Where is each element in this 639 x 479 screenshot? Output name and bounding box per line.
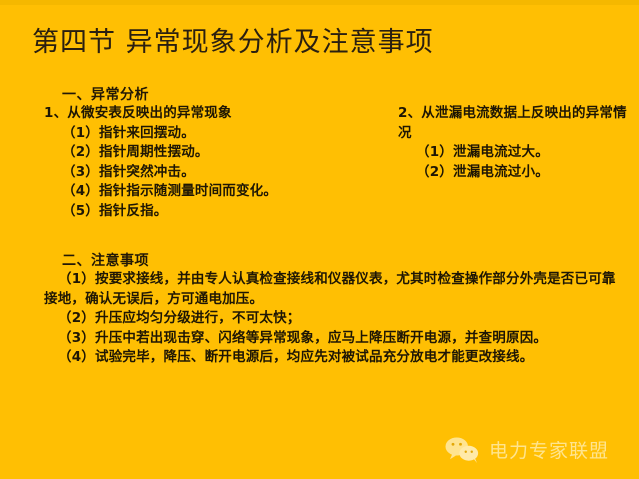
list-item: （4）指针指示随测量时间而变化。 (44, 182, 374, 202)
slide-canvas: 第四节 异常现象分析及注意事项 一、异常分析 1、从微安表反映出的异常现象 （1… (0, 0, 639, 479)
list-item: （2）泄漏电流过小。 (398, 163, 633, 183)
list-item: （3）指针突然冲击。 (44, 163, 374, 183)
list-item: 2、从泄漏电流数据上反映出的异常情况 (398, 104, 633, 143)
list-item: （4）试验完毕，降压、断开电源后，均应先对被试品充分放电才能更改接线。 (44, 348, 620, 368)
wechat-logo-icon (444, 436, 480, 463)
list-item: 1、从微安表反映出的异常现象 (44, 104, 374, 124)
list-item: （1）指针来回摆动。 (44, 124, 374, 144)
section-one-heading: 一、异常分析 (62, 84, 149, 104)
list-item: （3）升压中若出现击穿、闪络等异常现象，应马上降压断开电源，并查明原因。 (44, 329, 620, 349)
section-two-heading: 二、注意事项 (62, 250, 149, 270)
list-item: （2）指针周期性摆动。 (44, 143, 374, 163)
list-item: （2）升压应均匀分级进行，不可太快； (44, 309, 620, 329)
list-item: （1）按要求接线，并由专人认真检查接线和仪器仪表，尤其时检查操作部分外壳是否已可… (44, 270, 620, 309)
top-edge-strip (0, 0, 639, 5)
section-one-left-column: 1、从微安表反映出的异常现象 （1）指针来回摆动。 （2）指针周期性摆动。 （3… (44, 104, 374, 221)
list-item: （5）指针反指。 (44, 202, 374, 222)
page-title: 第四节 异常现象分析及注意事项 (32, 20, 434, 59)
watermark-label: 电力专家联盟 (489, 436, 609, 463)
section-one-right-column: 2、从泄漏电流数据上反映出的异常情况 （1）泄漏电流过大。 （2）泄漏电流过小。 (398, 104, 633, 182)
section-two-body: （1）按要求接线，并由专人认真检查接线和仪器仪表，尤其时检查操作部分外壳是否已可… (44, 270, 620, 368)
list-item: （1）泄漏电流过大。 (398, 143, 633, 163)
watermark: 电力专家联盟 (444, 436, 609, 463)
slide-content: 一、异常分析 1、从微安表反映出的异常现象 （1）指针来回摆动。 （2）指针周期… (0, 84, 639, 414)
